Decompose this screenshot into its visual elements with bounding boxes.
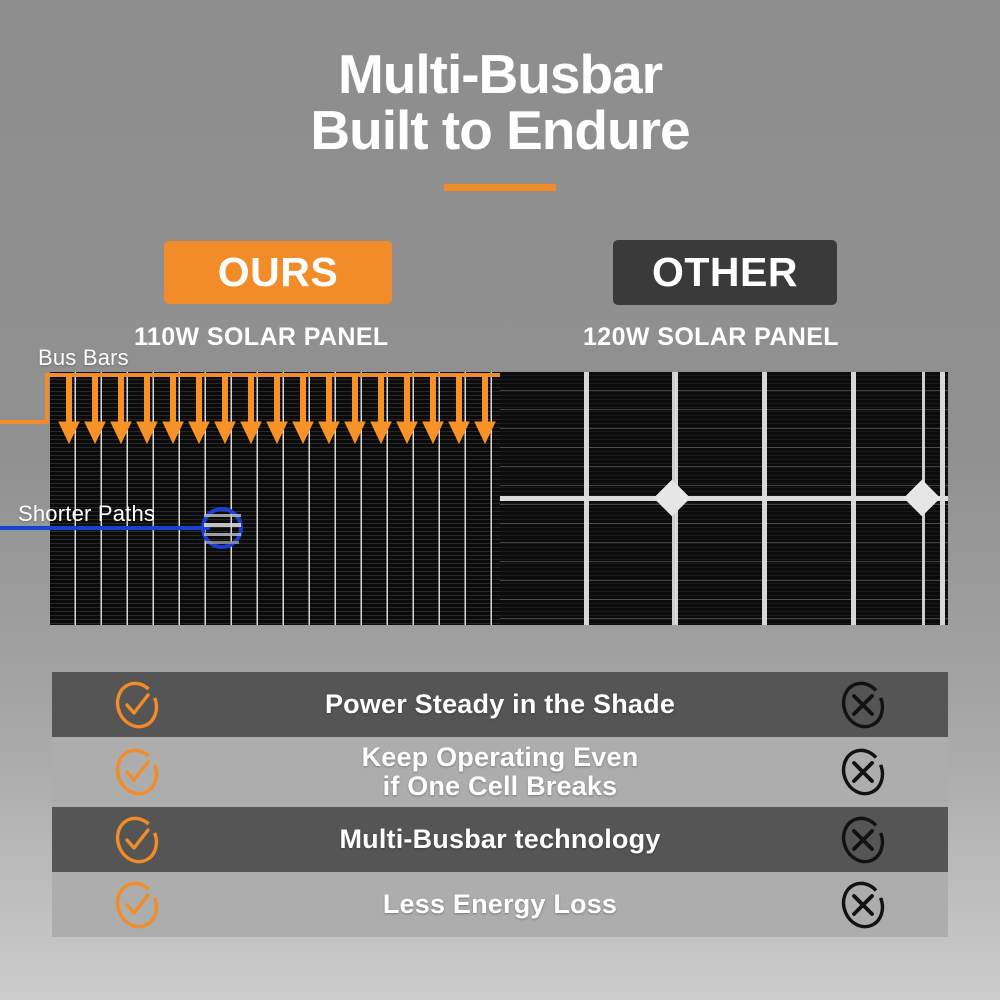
- feature-comparison-table: Power Steady in the Shade Keep Operating…: [52, 672, 948, 937]
- circle-check-icon: [111, 679, 163, 731]
- table-row: Less Energy Loss: [52, 872, 948, 937]
- solar-panel-ours: [50, 372, 500, 625]
- circle-cross-icon: [837, 679, 889, 731]
- feature-label: Less Energy Loss: [222, 890, 778, 919]
- feature-label-line1: Multi-Busbar technology: [339, 824, 660, 854]
- feature-label-line1: Power Steady in the Shade: [325, 689, 675, 719]
- multi-busbar-lines: [50, 372, 500, 625]
- circle-check-icon: [111, 746, 163, 798]
- other-cross-cell: [778, 879, 948, 931]
- label-shorter-paths: Shorter Paths: [18, 501, 155, 527]
- table-row: Power Steady in the Shade: [52, 672, 948, 737]
- ours-check-cell: [52, 679, 222, 731]
- table-row: Keep Operating Even if One Cell Breaks: [52, 737, 948, 807]
- solar-panel-other: [500, 372, 948, 625]
- table-row: Multi-Busbar technology: [52, 807, 948, 872]
- feature-label-line1: Keep Operating Even: [362, 742, 639, 772]
- feature-label-line1: Less Energy Loss: [383, 889, 617, 919]
- circle-cross-icon: [837, 879, 889, 931]
- ours-check-cell: [52, 879, 222, 931]
- feature-label: Multi-Busbar technology: [222, 825, 778, 854]
- feature-label: Power Steady in the Shade: [222, 690, 778, 719]
- circle-cross-icon: [837, 814, 889, 866]
- other-cross-cell: [778, 814, 948, 866]
- feature-label: Keep Operating Even if One Cell Breaks: [222, 743, 778, 800]
- feature-label-line2: if One Cell Breaks: [222, 772, 778, 801]
- ours-check-cell: [52, 746, 222, 798]
- circle-cross-icon: [837, 746, 889, 798]
- label-bus-bars: Bus Bars: [38, 345, 129, 371]
- cell-row-divider: [500, 496, 948, 501]
- other-cross-cell: [778, 746, 948, 798]
- circle-check-icon: [111, 879, 163, 931]
- other-cross-cell: [778, 679, 948, 731]
- circle-check-icon: [111, 814, 163, 866]
- ours-check-cell: [52, 814, 222, 866]
